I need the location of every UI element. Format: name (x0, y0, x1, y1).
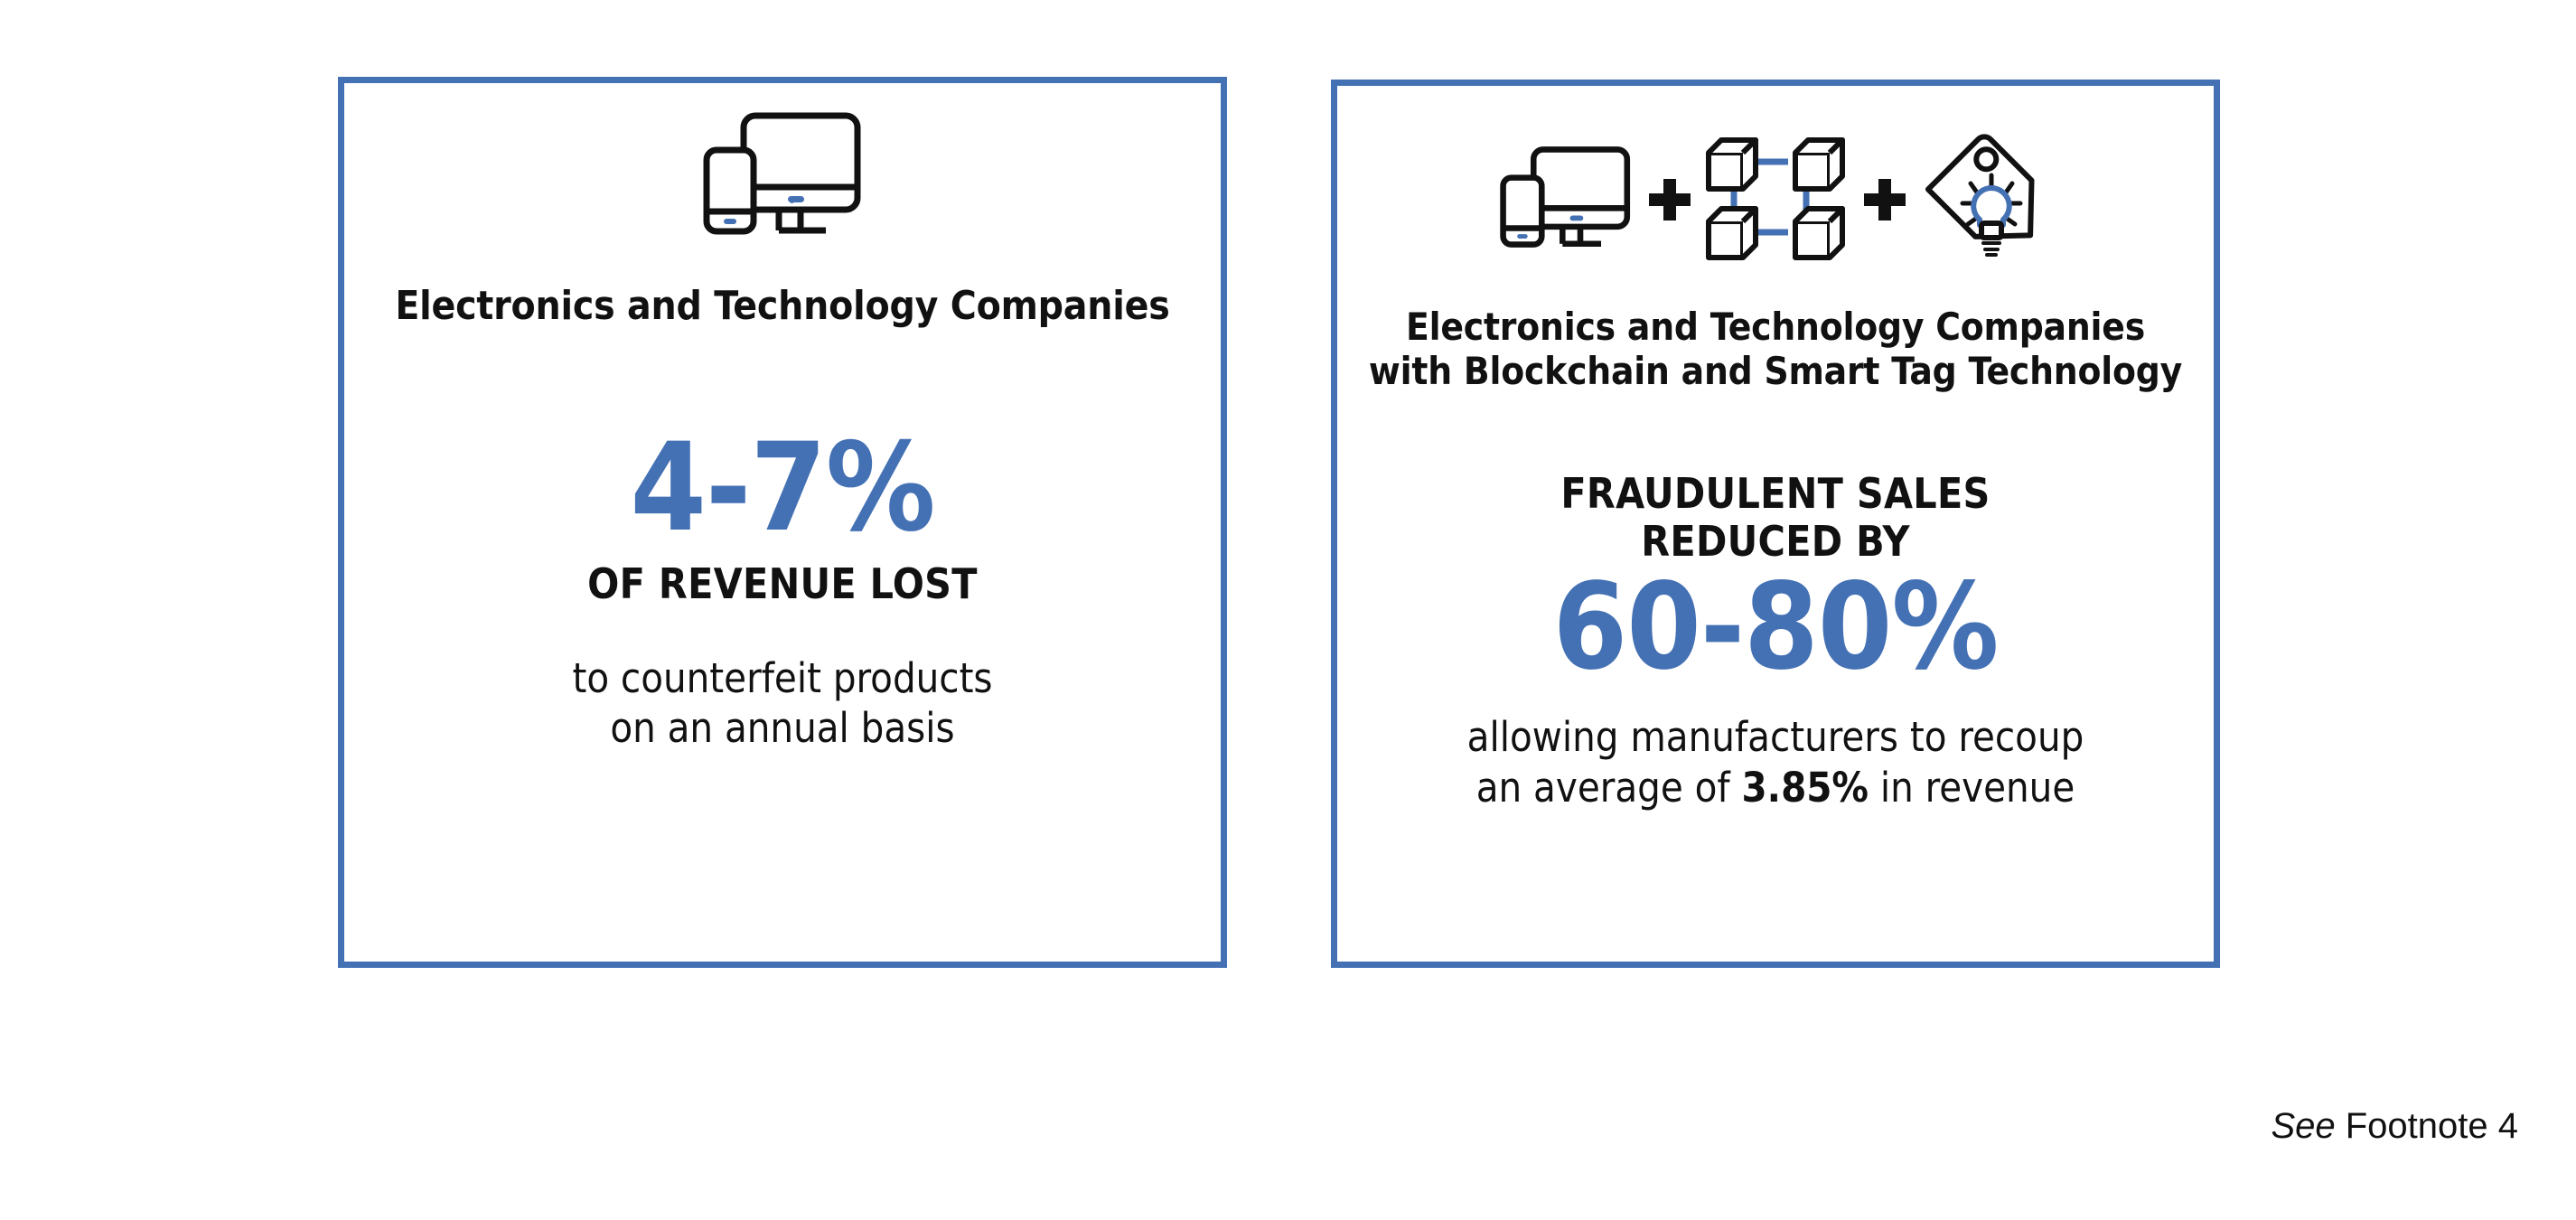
panel-body-text: allowing manufacturers to recoup an aver… (1467, 712, 2084, 813)
devices-icon (699, 110, 866, 241)
blockchain-icon (1705, 133, 1850, 266)
statistic-caption: OF REVENUE LOST (587, 560, 978, 607)
panel-body-text: to counterfeit products on an annual bas… (572, 653, 992, 755)
headline-statistic: 4-7% (630, 429, 934, 547)
body-line-1: allowing manufacturers to recoup (1467, 712, 2084, 763)
panel-heading-line-2: with Blockchain and Smart Tag Technology (1369, 350, 2182, 394)
stat-panel-baseline: Electronics and Technology Companies 4-7… (338, 77, 1227, 968)
icon-row-baseline (699, 110, 866, 241)
panel-heading: Electronics and Technology Companies wit… (1369, 305, 2182, 393)
stat-panel-blockchain: Electronics and Technology Companies wit… (1331, 80, 2220, 968)
panel-heading: Electronics and Technology Companies (395, 283, 1169, 329)
headline-statistic: 60-80% (1553, 570, 1999, 685)
body-line-2-suffix: in revenue (1869, 764, 2075, 812)
smart-tag-icon (1920, 134, 2054, 265)
footnote-see-label: See (2271, 1106, 2335, 1146)
footnote-reference: See Footnote 4 (2271, 1106, 2518, 1147)
statistic-caption: FRAUDULENT SALES REDUCED BY (1560, 470, 1990, 565)
statistic-caption-line-1: FRAUDULENT SALES (1560, 470, 1990, 517)
infographic-canvas: Electronics and Technology Companies 4-7… (0, 0, 2576, 1220)
body-line-1: to counterfeit products (572, 653, 992, 704)
recouped-percentage: 3.85% (1742, 764, 1869, 812)
panel-heading-line-1: Electronics and Technology Companies (1369, 305, 2182, 350)
plus-icon (1864, 179, 1906, 221)
icon-row-blockchain (1497, 133, 2054, 266)
body-line-2-prefix: an average of (1476, 764, 1742, 812)
plus-icon (1649, 179, 1691, 221)
devices-icon (1497, 144, 1635, 255)
footnote-number-label: Footnote 4 (2336, 1106, 2518, 1146)
body-line-2: an average of 3.85% in revenue (1467, 763, 2084, 813)
body-line-2: on an annual basis (572, 703, 992, 754)
